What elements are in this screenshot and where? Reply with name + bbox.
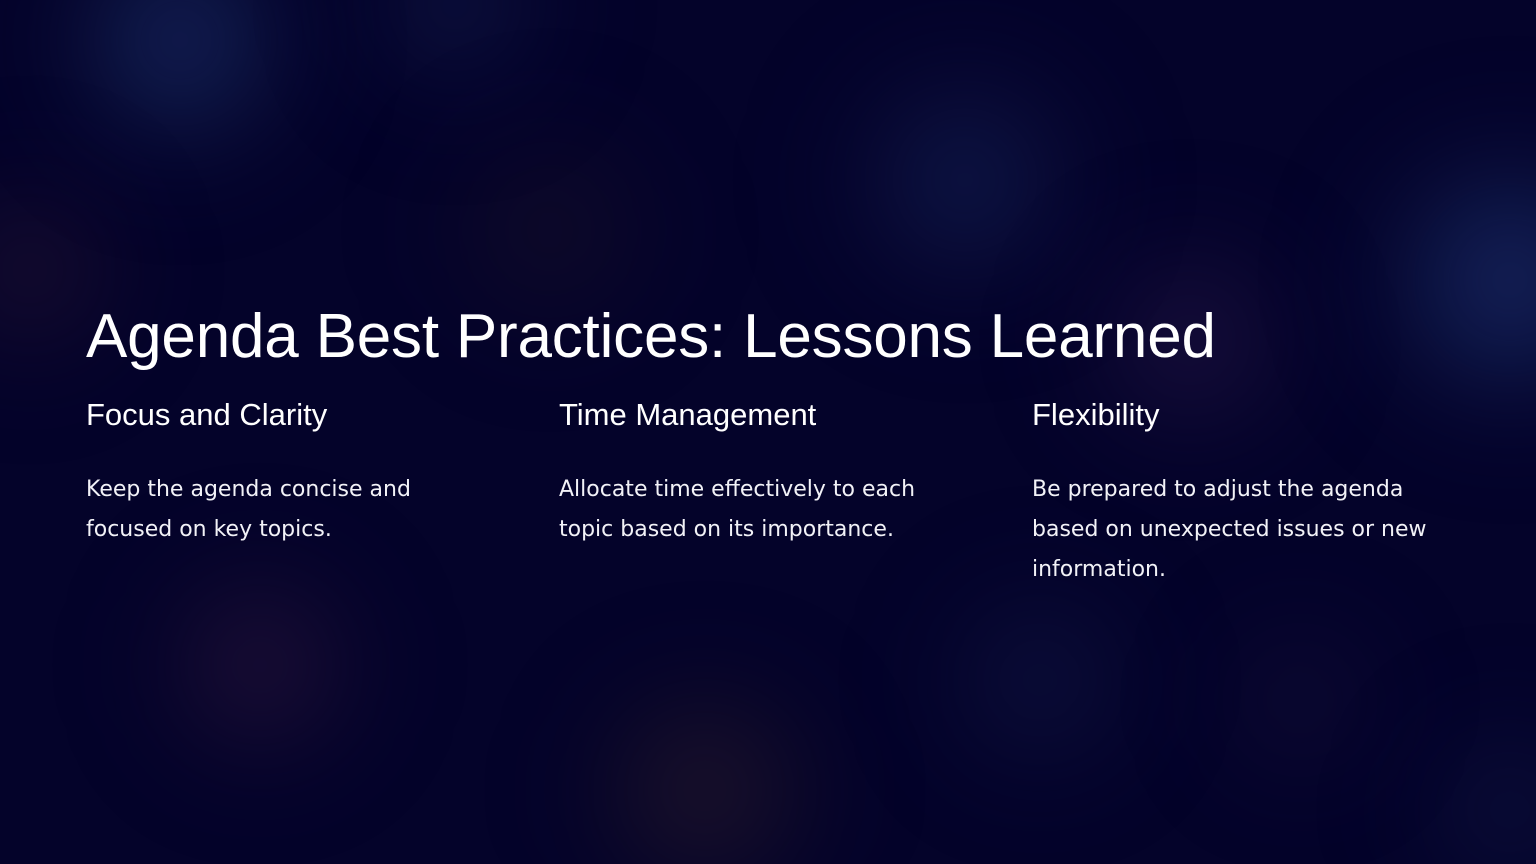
column-body-text: Keep the agenda concise and focused on k… [86,470,486,550]
column-heading: Focus and Clarity [86,396,486,434]
column-heading: Time Management [559,396,959,434]
presentation-slide: Agenda Best Practices: Lessons Learned F… [0,0,1536,864]
column-heading: Flexibility [1032,396,1432,434]
column-time-management: Time Management Allocate time effectivel… [559,396,959,590]
column-group: Focus and Clarity Keep the agenda concis… [86,396,1450,590]
column-focus-and-clarity: Focus and Clarity Keep the agenda concis… [86,396,486,590]
column-body-text: Allocate time effectively to each topic … [559,470,959,550]
column-body-text: Be prepared to adjust the agenda based o… [1032,470,1432,590]
column-flexibility: Flexibility Be prepared to adjust the ag… [1032,396,1432,590]
slide-content: Agenda Best Practices: Lessons Learned F… [0,0,1536,864]
page-title: Agenda Best Practices: Lessons Learned [86,300,1216,374]
